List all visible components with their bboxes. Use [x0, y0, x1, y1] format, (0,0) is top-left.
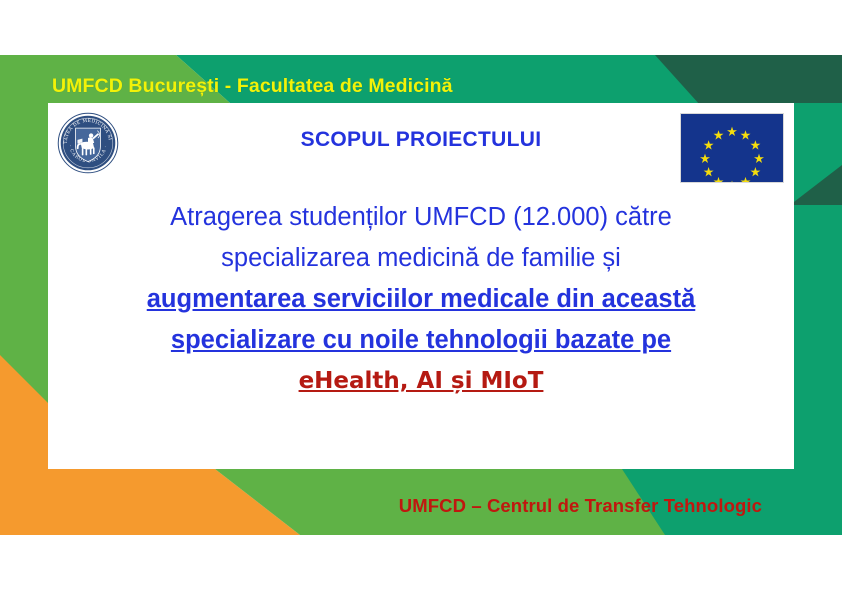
body-line: Atragerea studenților UMFCD (12.000) căt…: [78, 197, 764, 238]
slide-canvas: UMFCD București - Facultatea de Medicină…: [0, 55, 842, 535]
footer-title: UMFCD – Centrul de Transfer Tehnologic: [399, 495, 762, 517]
body-line-emphasized: augmentarea serviciilor medicale din ace…: [78, 279, 764, 320]
bg-right-teal-column: [794, 103, 842, 469]
body-text-block: Atragerea studenților UMFCD (12.000) căt…: [78, 197, 764, 402]
body-line-emphasized: specializare cu noile tehnologii bazate …: [78, 320, 764, 361]
content-card: UNIVERSITATEA DE MEDICINA SI FARMACIE · …: [48, 103, 794, 469]
header-title: UMFCD București - Facultatea de Medicină: [52, 75, 453, 98]
body-line-accent: eHealth, AI și MIoT: [78, 361, 764, 402]
card-title: SCOPUL PROIECTULUI: [48, 128, 794, 152]
body-line: specializarea medicină de familie și: [78, 238, 764, 279]
